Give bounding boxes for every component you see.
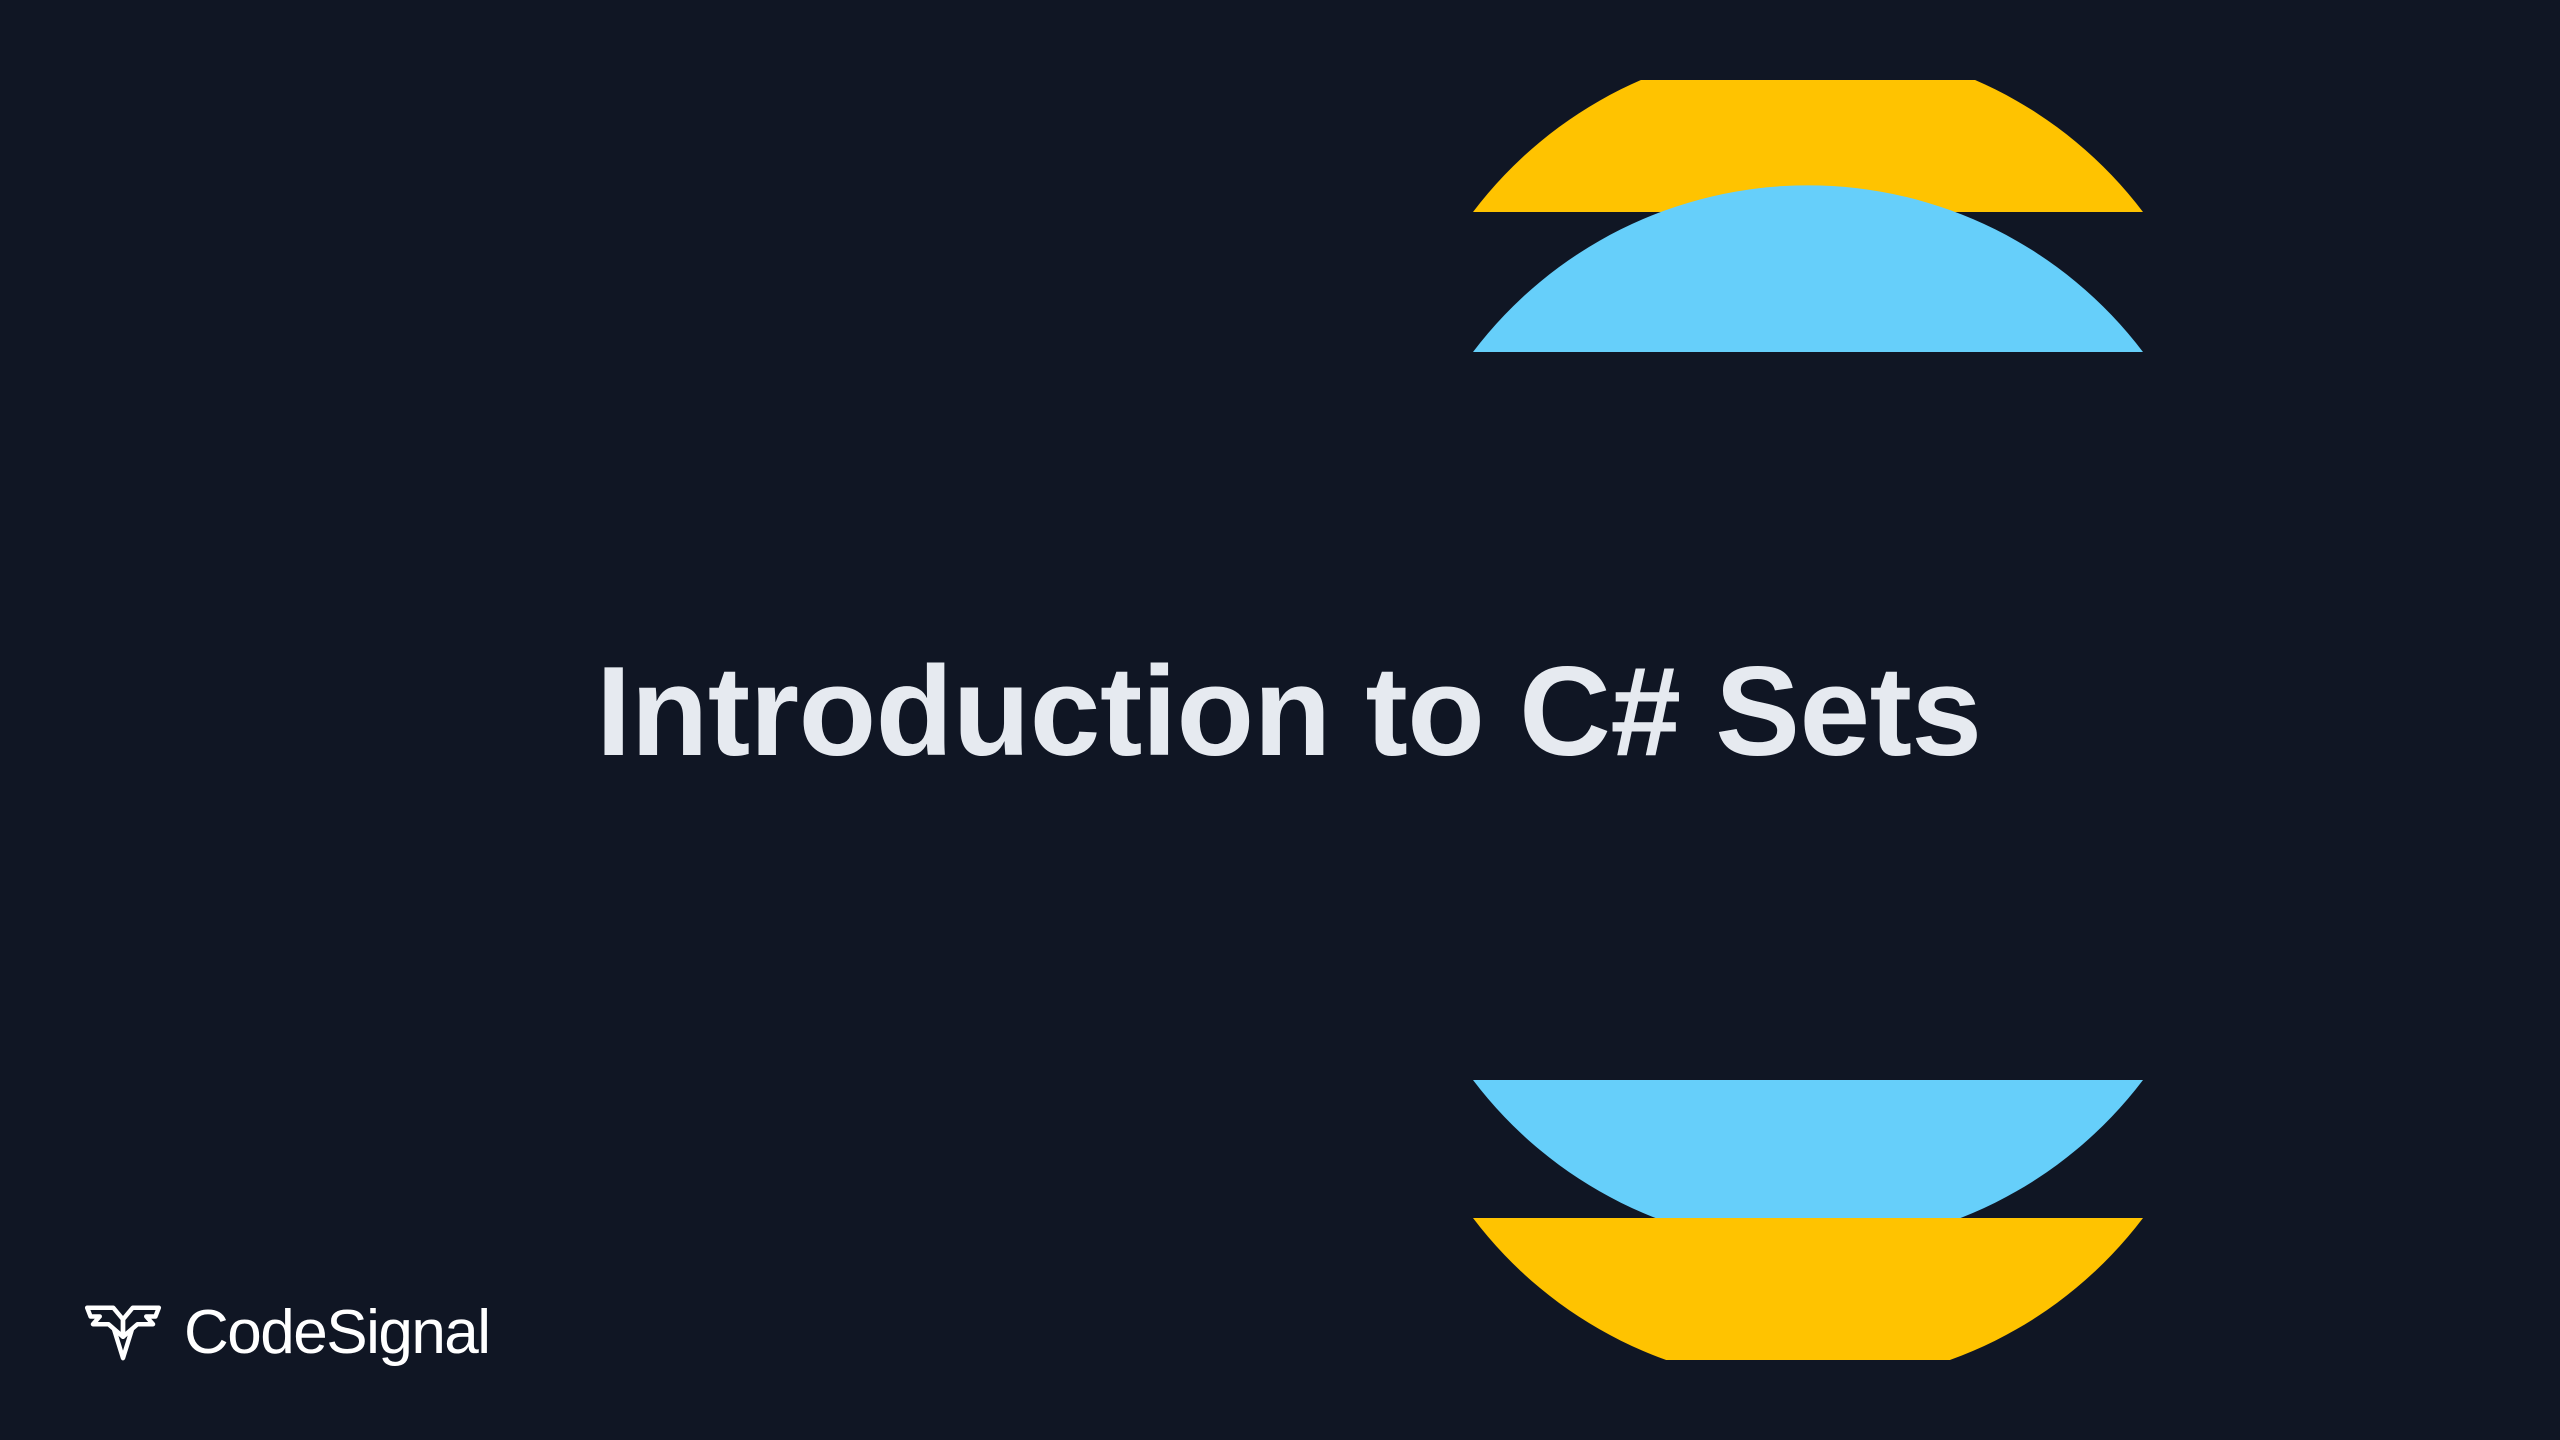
brand-wordmark: CodeSignal: [184, 1302, 490, 1364]
title-slide: Introduction to C# Sets CodeSignal: [0, 0, 2560, 1440]
page-title: Introduction to C# Sets: [0, 645, 1982, 778]
title-area: Introduction to C# Sets: [0, 0, 2560, 1440]
brand-logo: CodeSignal: [84, 1300, 490, 1362]
codesignal-falcon-mark-icon: [84, 1300, 162, 1362]
